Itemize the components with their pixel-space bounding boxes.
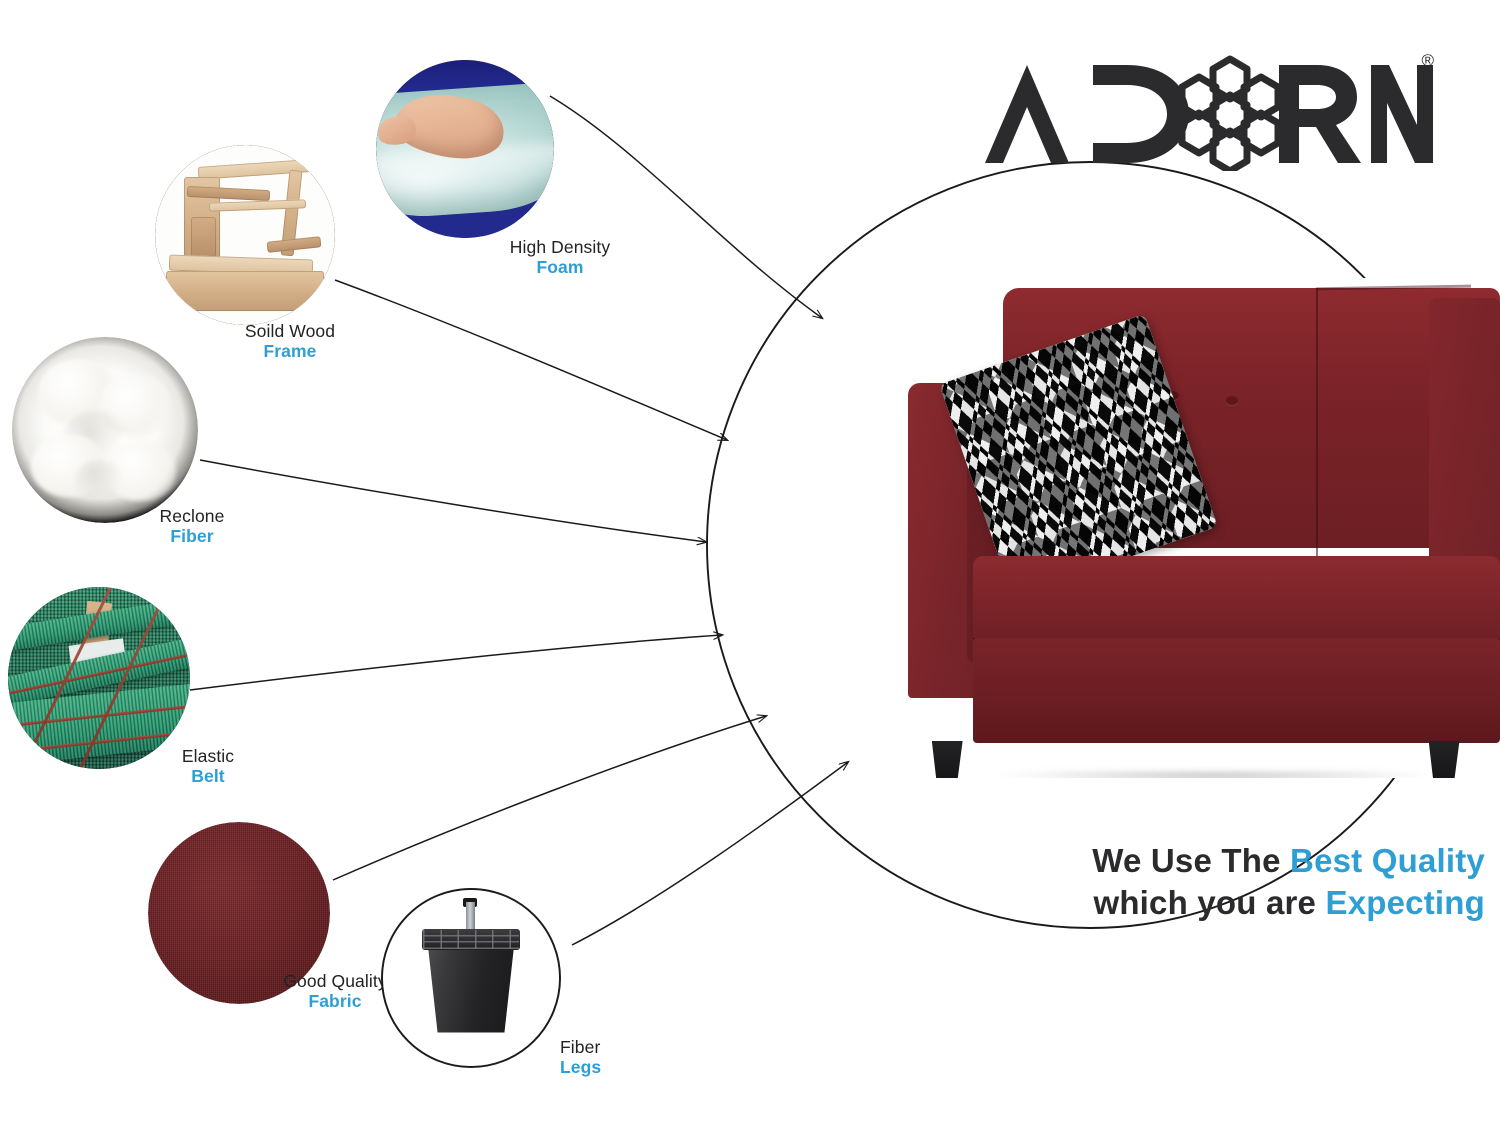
sofa-seat-cushion (973, 556, 1500, 651)
wooden-frame-photo (155, 145, 335, 325)
caption-line2: Belt (128, 767, 288, 787)
caption-line1: Soild Wood (200, 322, 380, 342)
sofa-floor-shadow (959, 771, 1471, 779)
tagline-line2-accent: Expecting (1325, 884, 1485, 921)
caption-line2: Fiber (112, 527, 272, 547)
arrow-belt (190, 635, 722, 690)
caption-fiber-legs: Fiber Legs (560, 1038, 700, 1077)
sofa-back-seam (1316, 288, 1318, 568)
caption-line2: Foam (470, 258, 650, 278)
tagline: We Use The Best Quality which you are Ex… (760, 840, 1485, 924)
sofa-back-cushion-right (1429, 298, 1500, 578)
arrow-fiber (200, 460, 706, 542)
arrow-fabric (333, 716, 766, 880)
caption-line2: Legs (560, 1058, 700, 1078)
caption-line1: Fiber (560, 1038, 700, 1058)
caption-solid-wood-frame: Soild Wood Frame (200, 322, 380, 361)
brand-logo: INDIA ® (975, 55, 1430, 170)
tagline-line1-accent: Best Quality (1290, 842, 1485, 879)
caption-elastic-belt: Elastic Belt (128, 747, 288, 786)
product-photo-sofa (905, 278, 1500, 778)
tagline-line-2: which you are Expecting (760, 882, 1485, 924)
caption-high-density-foam: High Density Foam (470, 238, 650, 277)
caption-line1: Reclone (112, 507, 272, 527)
arrow-foam (550, 96, 822, 318)
registered-trademark-icon: ® (1421, 51, 1434, 71)
sofa-tuft-button (1226, 396, 1238, 405)
elastic-belt-photo (8, 587, 190, 769)
caption-line2: Frame (200, 342, 380, 362)
logo-letters-rn (1275, 59, 1435, 167)
caption-line1: Elastic (128, 747, 288, 767)
tagline-line1-plain: We Use The (1092, 842, 1290, 879)
arrow-frame (335, 280, 727, 440)
caption-reclone-fiber: Reclone Fiber (112, 507, 272, 546)
sofa-base (973, 638, 1500, 743)
honeycomb-hexagon-cluster-icon (1171, 53, 1289, 171)
foam-photo (376, 60, 554, 238)
caption-line1: High Density (470, 238, 650, 258)
logo-country-label: INDIA (1415, 104, 1432, 164)
sofa-leg-photo (381, 888, 561, 1068)
fiber-photo (12, 337, 198, 523)
infographic-canvas: Soild Wood Frame High Density Foam (0, 0, 1500, 1125)
tagline-line-1: We Use The Best Quality (760, 840, 1485, 882)
tagline-line2-plain: which you are (1093, 884, 1325, 921)
